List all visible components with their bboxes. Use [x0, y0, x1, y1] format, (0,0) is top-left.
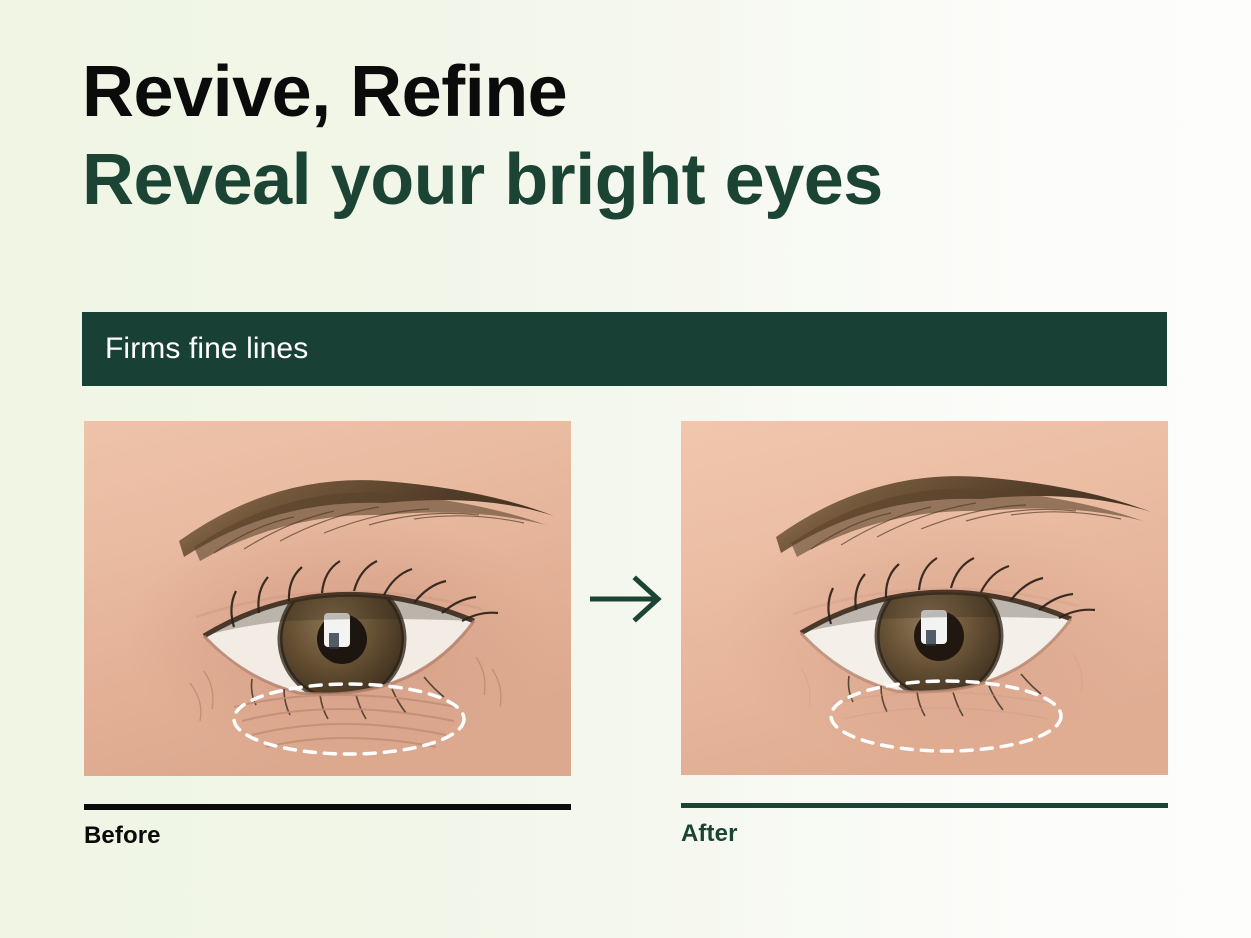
headline-line-1: Revive, Refine [82, 56, 883, 128]
after-photo [681, 421, 1168, 775]
before-caption: Before [84, 822, 571, 850]
before-rule [84, 804, 571, 810]
page-title: Revive, Refine Reveal your bright eyes [82, 56, 883, 216]
after-rule [681, 803, 1168, 808]
headline-line-2: Reveal your bright eyes [82, 144, 883, 216]
after-caption: After [681, 820, 1168, 848]
before-photo [84, 421, 571, 776]
benefit-banner: Firms fine lines [82, 312, 1167, 386]
after-panel: After [681, 421, 1168, 848]
benefit-banner-label: Firms fine lines [82, 332, 308, 366]
before-panel: Before [84, 421, 571, 850]
arrow-right-icon [588, 575, 666, 623]
